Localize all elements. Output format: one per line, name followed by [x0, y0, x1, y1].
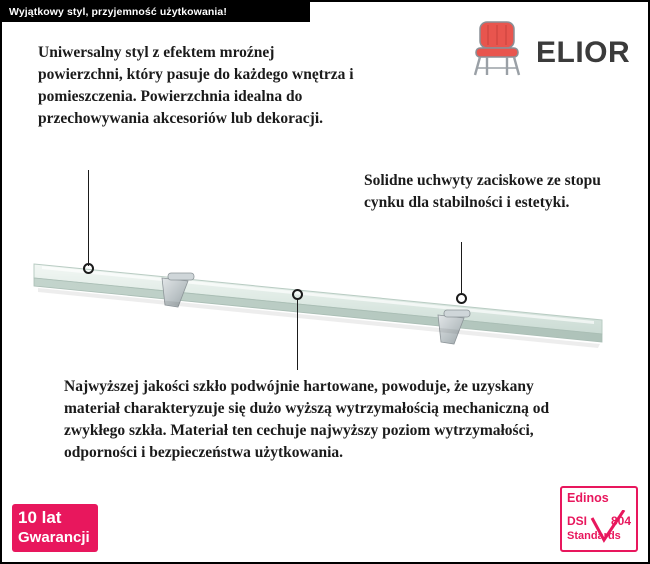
callout-text-bracket: Solidne uchwyty zaciskowe ze stopu cynku… — [364, 170, 630, 214]
callout-dot-surface — [83, 263, 94, 274]
edinos-standards: Standards — [567, 530, 621, 542]
edinos-code-number: 804 — [611, 514, 631, 528]
product-infographic-page: Wyjątkowy styl, przyjemność użytkowania!… — [0, 0, 650, 564]
callout-text-surface: Uniwersalny styl z efektem mroźnej powie… — [38, 42, 356, 130]
guarantee-years: 10 lat — [18, 508, 61, 528]
callout-text-glass: Najwyższej jakości szkło podwójnie harto… — [64, 376, 592, 464]
callout-dot-bracket — [456, 293, 467, 304]
edinos-code-prefix: DSI — [567, 514, 587, 528]
leader-line-right — [461, 242, 462, 294]
edinos-name: Edinos — [567, 491, 609, 505]
leader-line-top-left — [88, 170, 89, 266]
leader-line-bottom — [297, 298, 298, 370]
callout-dot-glass — [292, 289, 303, 300]
guarantee-badge: 10 lat Gwarancji — [12, 504, 98, 552]
edinos-badge: Edinos DSI 804 Standards — [560, 486, 638, 552]
guarantee-label: Gwarancji — [18, 529, 90, 546]
